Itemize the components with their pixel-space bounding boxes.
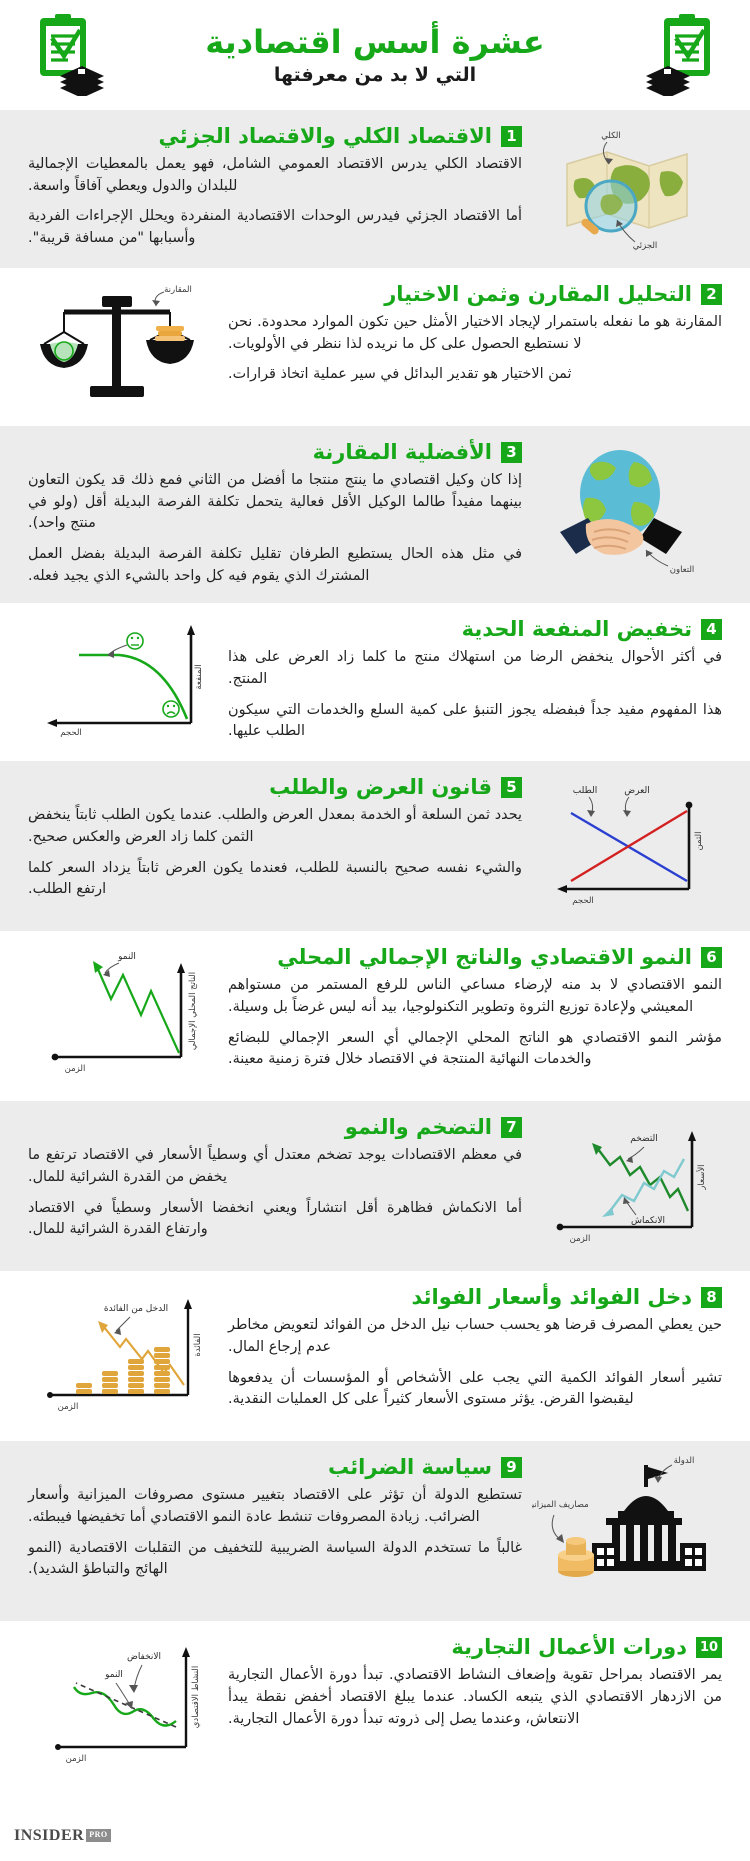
- section-5-body: 5 قانون العرض والطلب يحدد ثمن السلعة أو …: [18, 775, 532, 901]
- section-8-head: 8 دخل الفوائد وأسعار الفوائد: [228, 1285, 722, 1310]
- section-paragraph: أما الانكماش فظاهرة أقل انتشاراً ويعني ا…: [28, 1198, 522, 1241]
- section-number-badge: 3: [501, 442, 522, 463]
- series-label-demand: الطلب: [573, 786, 597, 796]
- section-paragraph: النمو الاقتصادي لا بد منه لإرضاء مساعي ا…: [228, 975, 722, 1018]
- interest-income-chart: الدخل من الفائدة الفائدة الزمن: [18, 1285, 218, 1425]
- section-title: التحليل المقارن وثمن الاختيار: [384, 282, 692, 307]
- section-paragraph: في مثل هذه الحال يستطيع الطرفان تقليل تك…: [28, 544, 522, 587]
- x-axis-label: الزمن: [570, 1234, 591, 1244]
- clipboard-books-icon: [642, 14, 720, 100]
- section-7-body: 7 التضخم والنمو في معظم الاقتصادات يوجد …: [18, 1115, 532, 1241]
- section-3: التعاون 3 الأفضلية المقارنة إذا كان وكيل…: [0, 426, 750, 603]
- y-axis-label: النشاط الاقتصادي: [191, 1666, 201, 1729]
- y-axis-label: الثمن: [694, 832, 704, 851]
- diminishing-utility-chart: المنفعة الحجم: [18, 617, 218, 745]
- section-number-badge: 5: [501, 777, 522, 798]
- section-8-body: 8 دخل الفوائد وأسعار الفوائد حين يعطي ال…: [218, 1285, 732, 1411]
- art-label-state: الدولة: [674, 1456, 695, 1466]
- x-axis-label: الزمن: [58, 1402, 79, 1412]
- section-paragraph: أما الاقتصاد الجزئي فيدرس الوحدات الاقتص…: [28, 206, 522, 249]
- section-paragraph: يمر الاقتصاد بمراحل تقوية وإضعاف النشاط …: [228, 1665, 722, 1730]
- series-label-growth: النمو: [104, 1670, 123, 1680]
- logo-wordmark: INSIDER: [14, 1827, 84, 1845]
- section-title: سياسة الضرائب: [328, 1455, 492, 1480]
- section-paragraph: حين يعطي المصرف قرضا هو يحسب حساب نيل ال…: [228, 1315, 722, 1358]
- section-8: 8 دخل الفوائد وأسعار الفوائد حين يعطي ال…: [0, 1271, 750, 1441]
- page-footer: INSIDER PRO: [0, 1791, 750, 1861]
- section-paragraph: غالباً ما تستخدم الدولة السياسة الضريبية…: [28, 1538, 522, 1581]
- supply-demand-chart: الطلب العرض الثمن الحجم: [532, 775, 732, 915]
- insider-pro-logo: INSIDER PRO: [14, 1827, 111, 1845]
- section-paragraph: في معظم الاقتصادات يوجد تضخم معتدل أي وس…: [28, 1145, 522, 1188]
- header-titles: عشرة أسس اقتصادية التي لا بد من معرفتها: [205, 24, 545, 87]
- section-number-badge: 6: [701, 947, 722, 968]
- series-label-deflation: الانكماش: [631, 1216, 665, 1226]
- art-label-budget-expenses: مصاريف الميزانية: [532, 1500, 589, 1510]
- section-1: الكلي الجزئي 1 الاقتصاد الكلي والاقتصاد …: [0, 110, 750, 268]
- x-axis-label: الحجم: [60, 728, 82, 738]
- section-9-body: 9 سياسة الضرائب تستطيع الدولة أن تؤثر عل…: [18, 1455, 532, 1581]
- section-7-head: 7 التضخم والنمو: [28, 1115, 522, 1140]
- section-number-badge: 9: [501, 1457, 522, 1478]
- art-label-comparison: المقارنة: [164, 285, 192, 295]
- logo-pro-badge: PRO: [86, 1829, 110, 1842]
- section-3-head: 3 الأفضلية المقارنة: [28, 440, 522, 465]
- section-number-badge: 2: [701, 284, 722, 305]
- section-title: النمو الاقتصادي والناتج الإجمالي المحلي: [277, 945, 692, 970]
- section-2-body: 2 التحليل المقارن وثمن الاختيار المقارنة…: [218, 282, 732, 386]
- section-1-head: 1 الاقتصاد الكلي والاقتصاد الجزئي: [28, 124, 522, 149]
- section-1-body: 1 الاقتصاد الكلي والاقتصاد الجزئي الاقتص…: [18, 124, 532, 250]
- section-4: 4 تخفيض المنفعة الحدية في أكثر الأحوال ي…: [0, 603, 750, 761]
- series-label-supply: العرض: [624, 786, 649, 796]
- art-label-macro: الكلي: [601, 131, 621, 141]
- section-6: 6 النمو الاقتصادي والناتج الإجمالي المحل…: [0, 931, 750, 1101]
- government-budget-icon: الدولة مصاريف الميزانية: [532, 1455, 732, 1605]
- x-axis-label: الزمن: [65, 1064, 86, 1074]
- section-paragraph: والشيء نفسه صحيح بالنسبة للطلب، فعندما ي…: [28, 858, 522, 901]
- series-label-inflation: التضخم: [630, 1134, 658, 1144]
- section-number-badge: 10: [696, 1637, 722, 1658]
- section-paragraph: ثمن الاختيار هو تقدير البدائل في سير عمل…: [228, 364, 722, 386]
- globe-handshake-icon: التعاون: [532, 440, 732, 580]
- section-title: قانون العرض والطلب: [269, 775, 492, 800]
- y-axis-label: المنفعة: [194, 665, 204, 690]
- clipboard-books-icon: [30, 14, 108, 100]
- x-axis-label: الحجم: [572, 896, 594, 906]
- section-10: 10 دورات الأعمال التجارية يمر الاقتصاد ب…: [0, 1621, 750, 1791]
- section-5-head: 5 قانون العرض والطلب: [28, 775, 522, 800]
- section-paragraph: تستطيع الدولة أن تؤثر على الاقتصاد بتغيي…: [28, 1485, 522, 1528]
- section-3-body: 3 الأفضلية المقارنة إذا كان وكيل اقتصادي…: [18, 440, 532, 587]
- series-label-interest-income: الدخل من الفائدة: [104, 1304, 168, 1314]
- gdp-growth-chart: النمو الناتج المحلي الإجمالي الزمن: [18, 945, 218, 1085]
- section-title: دورات الأعمال التجارية: [451, 1635, 687, 1660]
- page-title: عشرة أسس اقتصادية: [205, 24, 545, 61]
- y-axis-label: الأسعار: [696, 1165, 707, 1191]
- section-10-body: 10 دورات الأعمال التجارية يمر الاقتصاد ب…: [218, 1635, 732, 1730]
- section-paragraph: يحدد ثمن السلعة أو الخدمة بمعدل العرض وا…: [28, 805, 522, 848]
- section-5: الطلب العرض الثمن الحجم 5 قانون العرض وا…: [0, 761, 750, 931]
- section-number-badge: 1: [501, 126, 522, 147]
- section-number-badge: 8: [701, 1287, 722, 1308]
- section-7: التضخم الانكماش الأسعار الزمن 7 التضخم و…: [0, 1101, 750, 1271]
- map-magnifier-icon: الكلي الجزئي: [532, 124, 732, 252]
- section-number-badge: 4: [701, 619, 722, 640]
- y-axis-label: الناتج المحلي الإجمالي: [188, 972, 198, 1050]
- section-2: 2 التحليل المقارن وثمن الاختيار المقارنة…: [0, 268, 750, 426]
- series-label-decline: الانخفاض: [127, 1652, 161, 1662]
- infographic-page: عشرة أسس اقتصادية التي لا بد من معرفتها: [0, 0, 750, 1861]
- section-2-head: 2 التحليل المقارن وثمن الاختيار: [228, 282, 722, 307]
- section-paragraph: هذا المفهوم مفيد جداً فبفضله يجوز التنبؤ…: [228, 700, 722, 743]
- section-paragraph: في أكثر الأحوال ينخفض الرضا من استهلاك م…: [228, 647, 722, 690]
- section-6-head: 6 النمو الاقتصادي والناتج الإجمالي المحل…: [228, 945, 722, 970]
- art-label-cooperation: التعاون: [670, 565, 695, 575]
- art-label-micro: الجزئي: [633, 241, 658, 251]
- section-paragraph: الاقتصاد الكلي يدرس الاقتصاد العمومي الش…: [28, 154, 522, 197]
- section-paragraph: المقارنة هو ما نفعله باستمرار لإيجاد الا…: [228, 312, 722, 355]
- section-paragraph: تشير أسعار الفوائد الكمية التي يجب على ا…: [228, 1368, 722, 1411]
- y-axis-label: الفائدة: [193, 1334, 203, 1357]
- page-subtitle: التي لا بد من معرفتها: [205, 64, 545, 86]
- section-paragraph: مؤشر النمو الاقتصادي هو الناتج المحلي ال…: [228, 1028, 722, 1071]
- page-header: عشرة أسس اقتصادية التي لا بد من معرفتها: [0, 0, 750, 110]
- section-9: الدولة مصاريف الميزانية 9 سياسة الضرائب …: [0, 1441, 750, 1621]
- series-label-growth: النمو: [117, 952, 136, 962]
- balance-scale-icon: المقارنة: [18, 282, 218, 410]
- section-paragraph: إذا كان وكيل اقتصادي ما ينتج منتجا ما أف…: [28, 470, 522, 535]
- section-6-body: 6 النمو الاقتصادي والناتج الإجمالي المحل…: [218, 945, 732, 1071]
- section-title: الأفضلية المقارنة: [313, 440, 492, 465]
- section-title: التضخم والنمو: [345, 1115, 492, 1140]
- business-cycle-chart: الانخفاض النمو النشاط الاقتصادي الزمن: [18, 1635, 218, 1775]
- section-4-head: 4 تخفيض المنفعة الحدية: [228, 617, 722, 642]
- section-9-head: 9 سياسة الضرائب: [28, 1455, 522, 1480]
- section-4-body: 4 تخفيض المنفعة الحدية في أكثر الأحوال ي…: [218, 617, 732, 743]
- section-10-head: 10 دورات الأعمال التجارية: [228, 1635, 722, 1660]
- section-title: دخل الفوائد وأسعار الفوائد: [412, 1285, 692, 1310]
- section-title: الاقتصاد الكلي والاقتصاد الجزئي: [158, 124, 492, 149]
- section-title: تخفيض المنفعة الحدية: [462, 617, 692, 642]
- section-number-badge: 7: [501, 1117, 522, 1138]
- inflation-deflation-chart: التضخم الانكماش الأسعار الزمن: [532, 1115, 732, 1255]
